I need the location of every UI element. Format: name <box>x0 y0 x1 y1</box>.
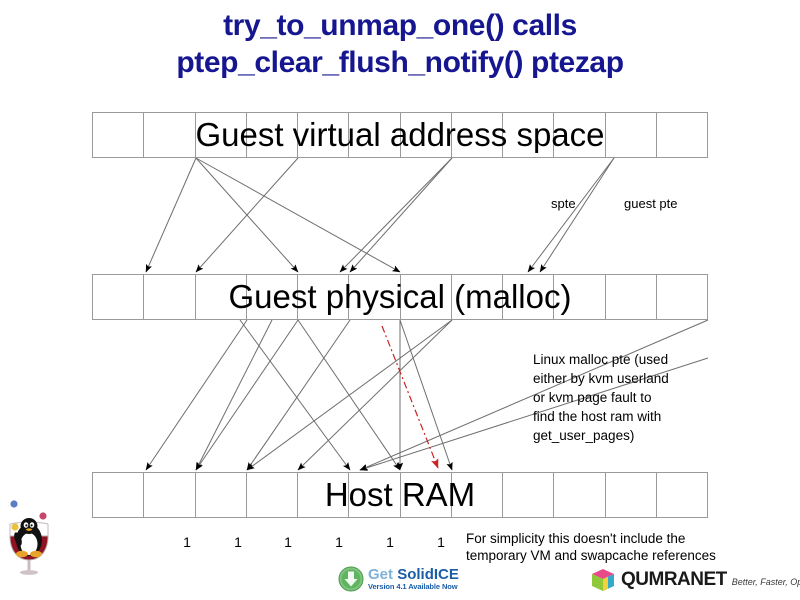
qumranet-tagline-label: Better, Faster, Open <box>732 577 800 587</box>
refcount-value: 1 <box>382 534 398 550</box>
memory-cell <box>247 275 298 319</box>
mapping-arrow <box>340 158 452 272</box>
mapping-arrow <box>196 320 298 470</box>
mapping-arrow <box>247 320 350 470</box>
tux-head <box>21 518 38 534</box>
memory-cell <box>606 473 657 517</box>
malloc-note-line: Linux malloc pte (used <box>533 350 783 369</box>
malloc-note-line: either by kvm userland <box>533 369 783 388</box>
qumranet-logo[interactable]: QUMRANET Better, Faster, Open <box>590 566 800 594</box>
title-line-2: ptep_clear_flush_notify() ptezap <box>0 45 800 82</box>
memory-cell <box>657 473 707 517</box>
mapping-arrow <box>196 320 272 470</box>
memory-row-host-ram <box>92 472 708 518</box>
memory-cell <box>554 473 605 517</box>
memory-cell <box>401 473 452 517</box>
memory-cell <box>606 275 657 319</box>
download-arrow-icon <box>338 566 364 592</box>
memory-cell <box>657 275 707 319</box>
memory-cell <box>144 473 195 517</box>
memory-cell <box>93 473 144 517</box>
page-title: try_to_unmap_one() calls ptep_clear_flus… <box>0 8 800 81</box>
memory-cell <box>196 473 247 517</box>
refcount-value: 1 <box>331 534 347 550</box>
mapping-arrow <box>528 158 614 272</box>
annotation-spte: spte <box>551 196 576 211</box>
memory-cell <box>196 113 247 157</box>
mapping-arrow <box>247 320 452 470</box>
refcount-value: 1 <box>433 534 449 550</box>
memory-cell <box>247 113 298 157</box>
refcount-value: 1 <box>179 534 195 550</box>
mapping-arrow <box>240 320 350 470</box>
memory-cell <box>247 473 298 517</box>
title-line-1: try_to_unmap_one() calls <box>0 8 800 45</box>
memory-cell <box>554 113 605 157</box>
juggling-ball-icon <box>39 512 46 519</box>
memory-cell <box>93 113 144 157</box>
qumranet-cube-icon <box>590 567 616 593</box>
memory-cell <box>657 113 707 157</box>
tux-in-wine-glass-logo <box>2 496 56 576</box>
memory-cell <box>144 113 195 157</box>
memory-cell <box>452 473 503 517</box>
mapping-arrow <box>196 158 298 272</box>
gva-to-gpa-arrows <box>146 158 614 272</box>
juggling-ball-icon <box>10 500 17 507</box>
malloc-note-line: find the host ram with <box>533 407 783 426</box>
mapping-arrow <box>196 158 400 272</box>
juggling-ball-icon <box>11 523 18 530</box>
memory-row-guest-physical <box>92 274 708 320</box>
memory-cell <box>401 113 452 157</box>
memory-cell <box>144 275 195 319</box>
glass-stem <box>28 560 31 571</box>
solidice-version-label: Version 4.1 Available Now <box>368 583 459 591</box>
memory-cell <box>298 473 349 517</box>
memory-cell <box>401 275 452 319</box>
memory-cell <box>349 275 400 319</box>
solidice-logo[interactable]: Get SolidICE Version 4.1 Available Now <box>338 563 459 595</box>
memory-cell <box>452 275 503 319</box>
tux-foot <box>30 551 42 557</box>
malloc-note-line: get_user_pages) <box>533 426 783 445</box>
memory-cell <box>554 275 605 319</box>
mapping-arrow <box>400 320 452 470</box>
annotation-guest-pte: guest pte <box>624 196 678 211</box>
malloc-note-line: or kvm page fault to <box>533 388 783 407</box>
mapping-arrow <box>298 320 452 470</box>
memory-cell <box>503 113 554 157</box>
memory-row-guest-virtual <box>92 112 708 158</box>
solidice-product-label: SolidICE <box>397 566 459 583</box>
memory-cell <box>298 113 349 157</box>
mapping-arrow <box>350 158 452 272</box>
memory-cell <box>298 275 349 319</box>
mapping-arrow <box>146 158 196 272</box>
glass-base <box>20 570 38 575</box>
memory-cell <box>349 113 400 157</box>
memory-cell <box>606 113 657 157</box>
annotation-malloc-note: Linux malloc pte (used either by kvm use… <box>533 350 783 445</box>
mapping-arrow <box>540 158 614 272</box>
mapping-arrow <box>298 320 400 470</box>
memory-cell <box>196 275 247 319</box>
refcount-strip: 1 1 1 1 1 1 <box>92 534 708 554</box>
memory-cell <box>349 473 400 517</box>
memory-cell <box>503 473 554 517</box>
refcount-value: 1 <box>280 534 296 550</box>
memory-cell <box>503 275 554 319</box>
refcount-value: 1 <box>230 534 246 550</box>
highlight-unmap-arrow <box>382 326 438 468</box>
solidice-get-label: Get <box>368 566 393 583</box>
mapping-arrow <box>196 158 298 272</box>
mapping-arrow <box>146 320 247 470</box>
qumranet-name-label: QUMRANET <box>621 569 727 591</box>
memory-cell <box>452 113 503 157</box>
tux-foot <box>16 551 28 557</box>
memory-cell <box>93 275 144 319</box>
